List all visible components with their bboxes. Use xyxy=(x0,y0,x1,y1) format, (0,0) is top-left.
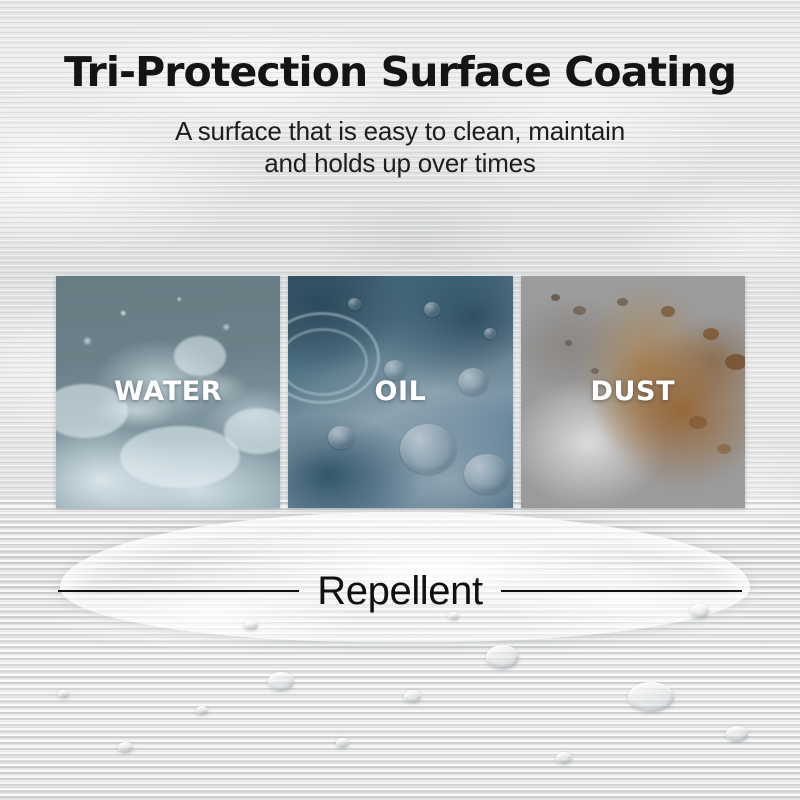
divider-line-right xyxy=(501,590,742,592)
repellent-label: Repellent xyxy=(313,569,486,614)
oil-bubble xyxy=(400,424,456,474)
feature-panel-water[interactable]: WATER xyxy=(56,276,280,508)
feature-panel-dust-label: DUST xyxy=(521,376,745,407)
product-poster: Tri-Protection Surface Coating A surface… xyxy=(0,0,800,800)
subtitle-line-2: and holds up over times xyxy=(0,147,800,179)
water-droplet xyxy=(268,672,294,691)
dust-speck xyxy=(725,354,745,370)
water-droplet xyxy=(486,645,519,669)
feature-panel-oil[interactable]: OIL xyxy=(288,276,512,508)
feature-panel-group: WATER OIL DU xyxy=(56,276,745,508)
dust-speck xyxy=(689,416,707,429)
feature-panel-oil-label: OIL xyxy=(288,376,512,407)
dust-speck xyxy=(661,306,675,317)
water-droplet xyxy=(726,726,748,742)
water-droplet xyxy=(244,620,258,630)
page-title: Tri-Protection Surface Coating xyxy=(0,48,800,96)
water-droplet xyxy=(628,682,674,712)
water-droplet xyxy=(196,706,208,715)
dust-speck xyxy=(591,368,599,374)
oil-bubble xyxy=(464,454,510,494)
dust-speck xyxy=(565,340,572,346)
feature-panel-water-label: WATER xyxy=(56,376,280,407)
repellent-banner: Repellent xyxy=(58,565,742,617)
water-droplet xyxy=(118,742,133,753)
page-subtitle: A surface that is easy to clean, maintai… xyxy=(0,115,800,179)
water-splash-highlight xyxy=(174,336,226,376)
water-droplet xyxy=(58,690,69,698)
dust-speck xyxy=(703,328,719,340)
dust-speck xyxy=(573,306,586,315)
dust-speck xyxy=(617,298,628,306)
water-splash-highlight xyxy=(120,426,240,488)
subtitle-line-1: A surface that is easy to clean, maintai… xyxy=(175,116,625,146)
feature-panel-dust[interactable]: DUST xyxy=(521,276,745,508)
water-droplet xyxy=(404,690,421,703)
water-droplet xyxy=(556,752,572,764)
dust-speck xyxy=(717,444,731,454)
divider-line-left xyxy=(58,590,299,592)
dust-speck xyxy=(551,294,560,301)
water-droplet xyxy=(336,738,349,748)
